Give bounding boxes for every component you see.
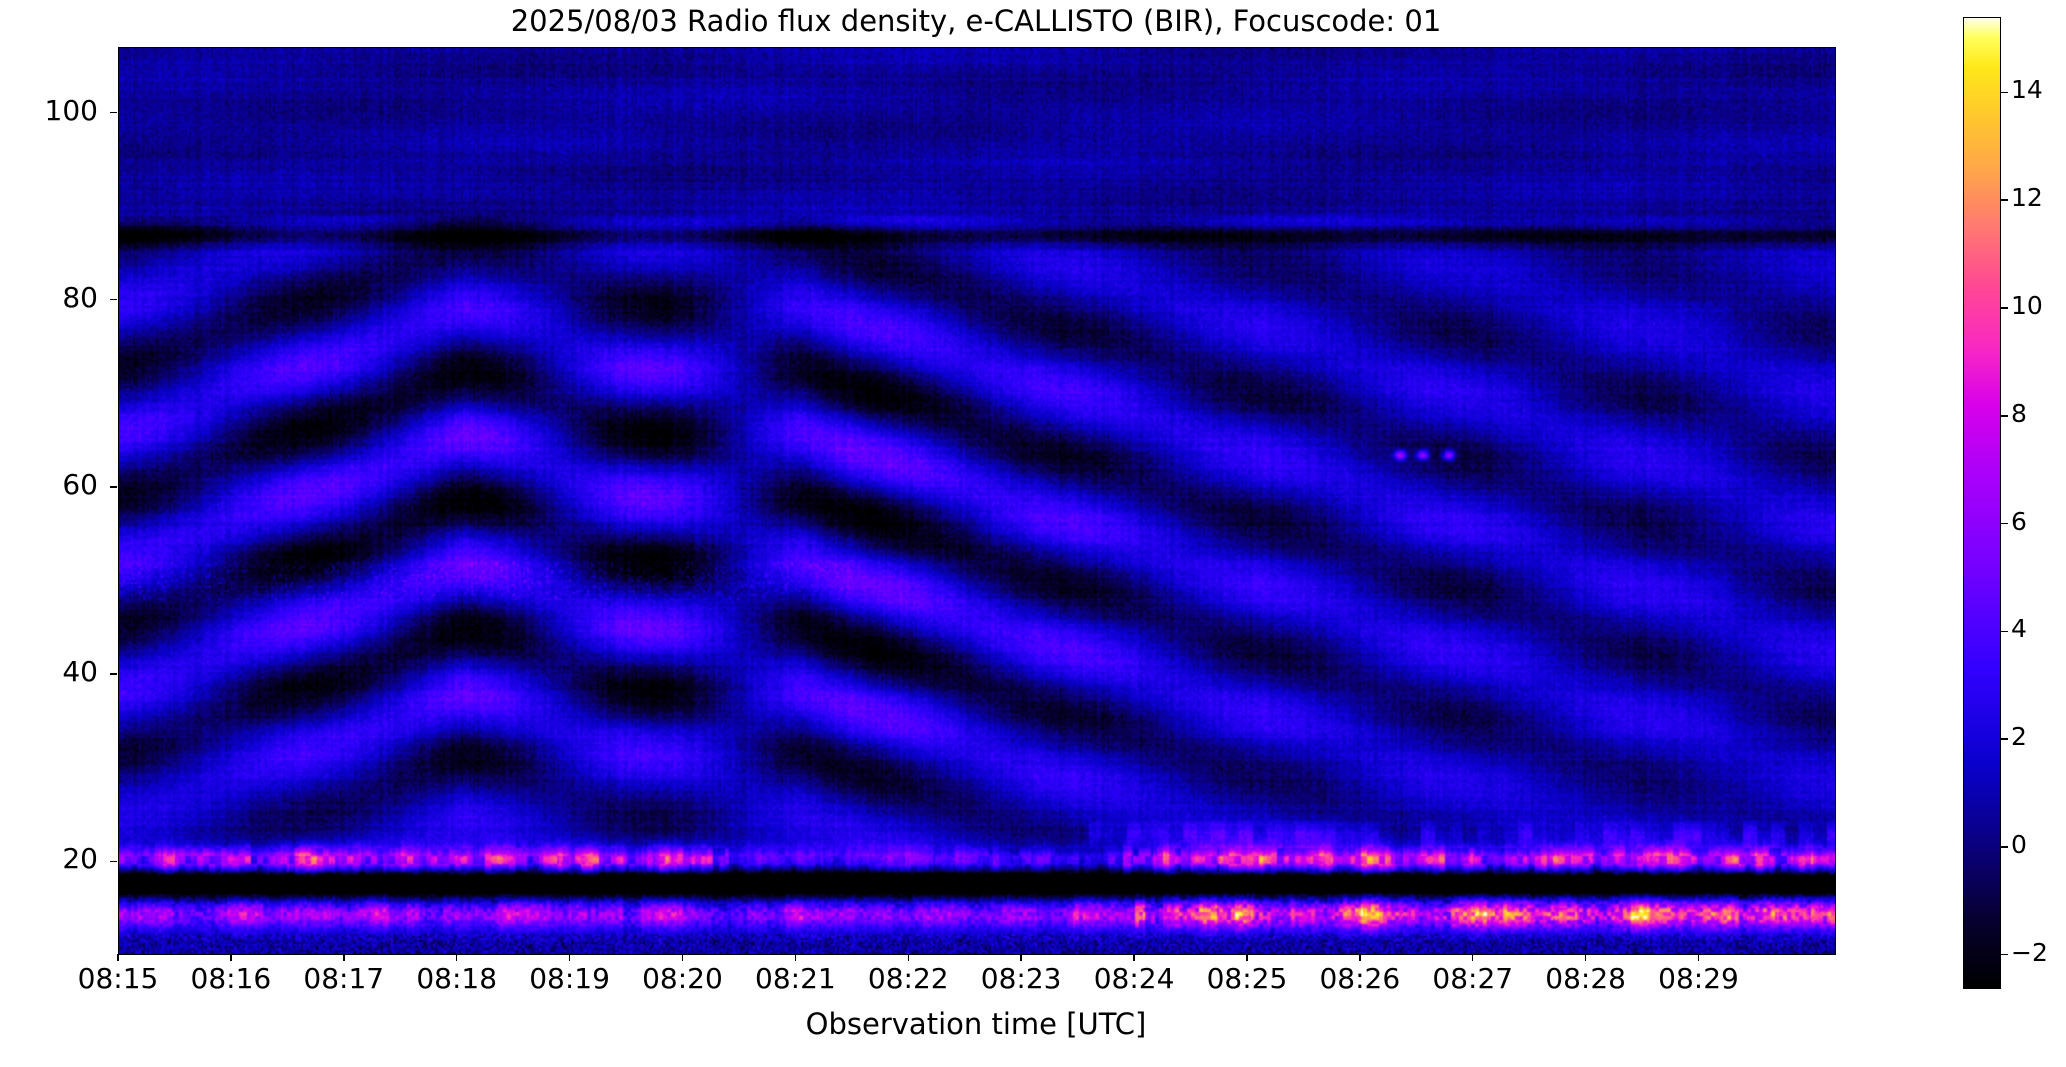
colorbar-tick-label: 2: [2011, 722, 2066, 751]
colorbar-tick-label: −2: [2011, 938, 2066, 967]
x-tick-mark: [1472, 954, 1474, 961]
spectrogram-axes: [118, 47, 1836, 955]
colorbar-tick-mark: [2001, 92, 2008, 94]
figure-canvas: 2025/08/03 Radio flux density, e-CALLIST…: [0, 0, 2066, 1067]
colorbar-tick-label: 8: [2011, 399, 2066, 428]
x-tick-mark: [1133, 954, 1135, 961]
y-tick-mark: [110, 299, 117, 301]
colorbar-gradient: [1964, 18, 2000, 988]
x-tick-mark: [456, 954, 458, 961]
colorbar-tick-mark: [2001, 199, 2008, 201]
y-tick-label: 100: [0, 94, 98, 127]
figure-title: 2025/08/03 Radio flux density, e-CALLIST…: [118, 4, 1834, 38]
x-axis-label: Observation time [UTC]: [118, 1007, 1834, 1041]
x-tick-label: 08:29: [1599, 962, 1799, 995]
x-tick-mark: [1246, 954, 1248, 961]
y-tick-mark: [110, 486, 117, 488]
colorbar-tick-mark: [2001, 846, 2008, 848]
colorbar-tick-label: 10: [2011, 291, 2066, 320]
x-tick-mark: [569, 954, 571, 961]
spectrogram-image: [119, 48, 1835, 954]
colorbar-tick-mark: [2001, 631, 2008, 633]
x-tick-mark: [117, 954, 119, 961]
colorbar-tick-mark: [2001, 954, 2008, 956]
x-tick-mark: [908, 954, 910, 961]
x-tick-mark: [795, 954, 797, 961]
x-tick-mark: [1359, 954, 1361, 961]
x-tick-mark: [1698, 954, 1700, 961]
colorbar-tick-mark: [2001, 415, 2008, 417]
colorbar-tick-mark: [2001, 738, 2008, 740]
colorbar-tick-label: 14: [2011, 75, 2066, 104]
y-tick-label: 60: [0, 468, 98, 501]
colorbar: [1963, 17, 2001, 989]
colorbar-tick-label: 6: [2011, 507, 2066, 536]
colorbar-tick-mark: [2001, 307, 2008, 309]
y-tick-mark: [110, 112, 117, 114]
x-tick-mark: [343, 954, 345, 961]
colorbar-tick-label: 4: [2011, 614, 2066, 643]
y-tick-mark: [110, 861, 117, 863]
y-tick-label: 80: [0, 281, 98, 314]
colorbar-tick-mark: [2001, 523, 2008, 525]
y-tick-mark: [110, 673, 117, 675]
colorbar-tick-label: 0: [2011, 830, 2066, 859]
x-tick-mark: [682, 954, 684, 961]
x-tick-mark: [1585, 954, 1587, 961]
y-tick-label: 40: [0, 655, 98, 688]
x-tick-mark: [1020, 954, 1022, 961]
colorbar-tick-label: 12: [2011, 183, 2066, 212]
x-tick-mark: [230, 954, 232, 961]
y-tick-label: 20: [0, 842, 98, 875]
